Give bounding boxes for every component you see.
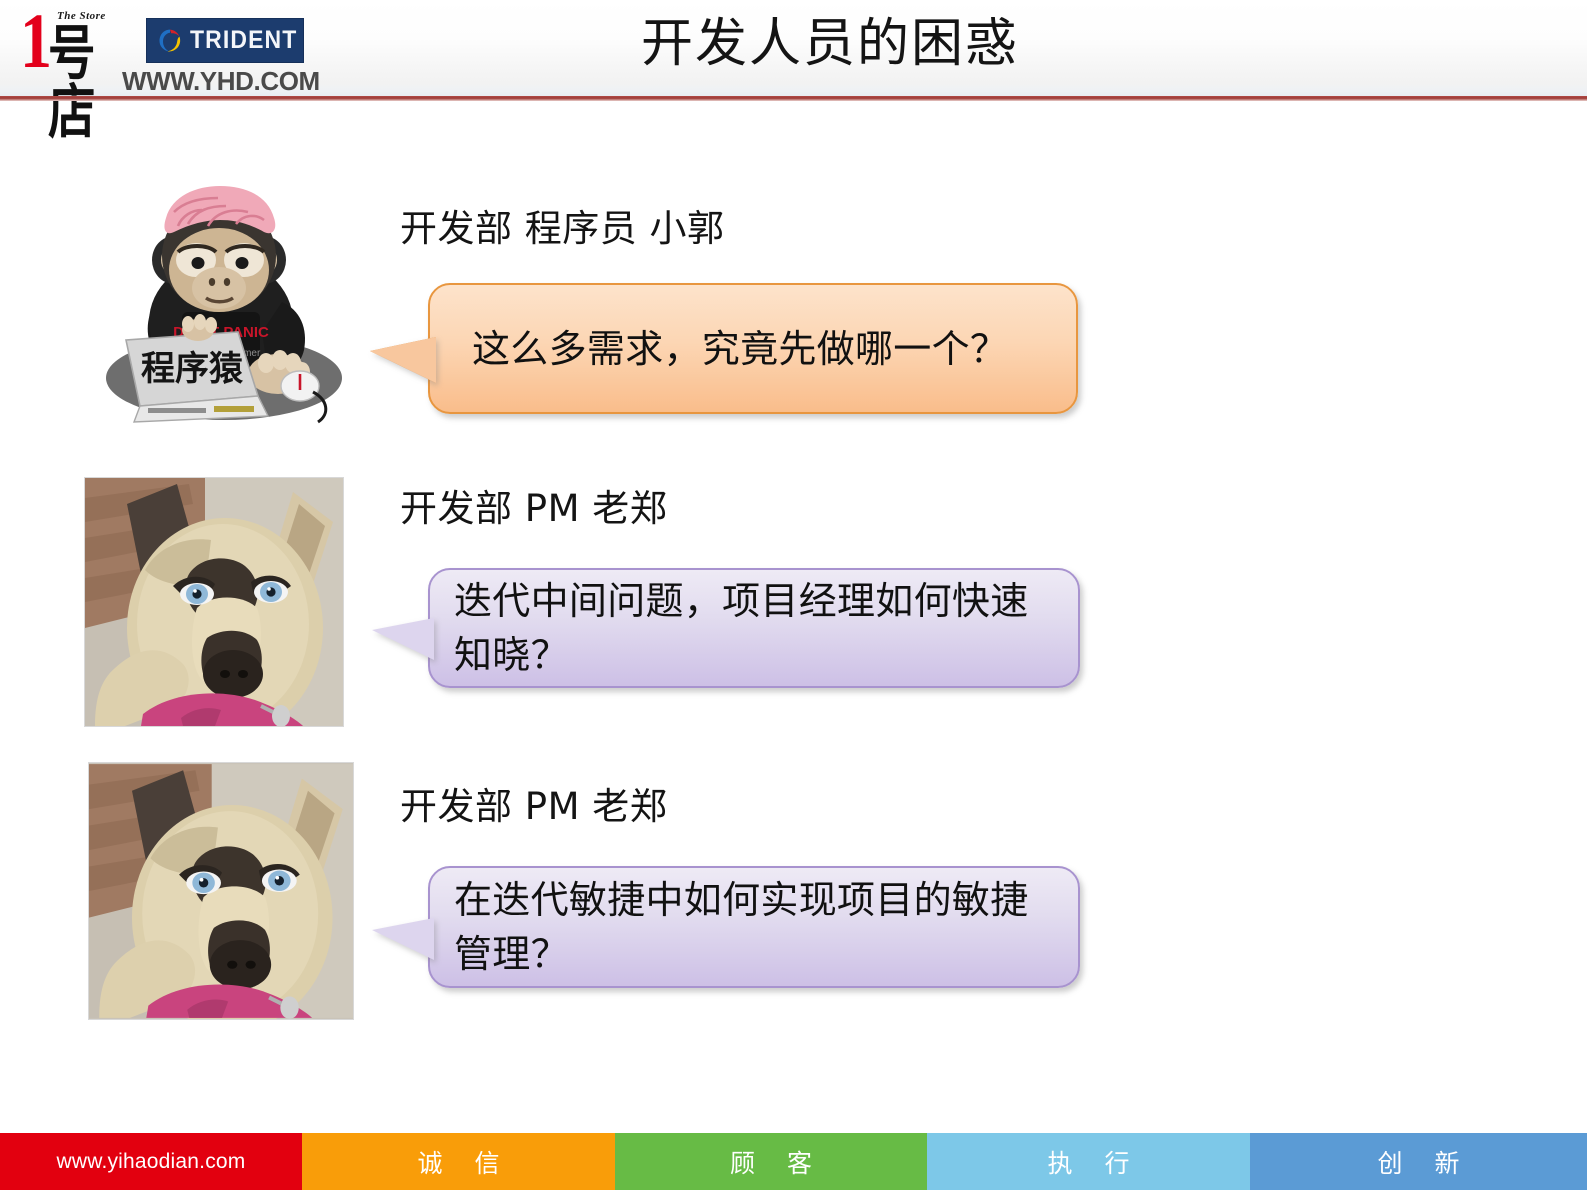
logo-characters: 号店 [48, 24, 130, 142]
dog-photo-graphic-2 [89, 763, 353, 1019]
page-title: 开发人员的困惑 [520, 8, 1140, 80]
footer-segment-url: www.yihaodian.com [0, 1133, 302, 1190]
brand-url-text: WWW.YHD.COM [122, 66, 320, 97]
yihaodian-logo: 1 The Store 号店 [16, 2, 134, 94]
avatar-photo-2 [84, 477, 344, 727]
speech-tail-2 [372, 618, 434, 660]
programmer-monkey-illustration: DON'T PANIC I'm a programmer 程序猿 [96, 182, 346, 430]
trident-logo-text: TRIDENT [190, 26, 297, 55]
footer-segment-customer: 顾 客 [615, 1133, 927, 1190]
speech-bubble-text-1: 这么多需求，究竟先做哪一个？ [430, 323, 1028, 375]
trident-logo: TRIDENT [146, 18, 304, 63]
speech-tail-1 [370, 337, 436, 383]
slide-header: 1 The Store 号店 TRIDENT WWW.YHD.COM 开发人员的… [0, 0, 1587, 97]
speech-bubble-3: 在迭代敏捷中如何实现项目的敏捷管理？ [428, 866, 1080, 988]
laptop-screen-caption: 程序猿 [141, 349, 244, 389]
trident-swirl-icon [156, 27, 184, 55]
header-divider [0, 96, 1587, 101]
avatar-photo-3 [88, 762, 354, 1020]
speech-bubble-text-3: 在迭代敏捷中如何实现项目的敏捷管理？ [430, 873, 1078, 981]
speech-bubble-text-2: 迭代中间问题，项目经理如何快速知晓？ [430, 574, 1078, 682]
speech-bubble-2: 迭代中间问题，项目经理如何快速知晓？ [428, 568, 1080, 688]
role-label-1: 开发部 程序员 小郭 [400, 198, 725, 252]
slide-footer: www.yihaodian.com 诚 信 顾 客 执 行 创 新 [0, 1133, 1587, 1190]
role-label-2: 开发部 PM 老郑 [400, 478, 667, 532]
footer-segment-integrity: 诚 信 [302, 1133, 615, 1190]
speech-tail-3 [372, 918, 434, 960]
speech-bubble-1: 这么多需求，究竟先做哪一个？ [428, 283, 1078, 414]
footer-segment-innovation: 创 新 [1250, 1133, 1587, 1190]
footer-segment-execution: 执 行 [927, 1133, 1250, 1190]
dog-photo-graphic [85, 478, 343, 726]
role-label-3: 开发部 PM 老郑 [400, 776, 667, 830]
